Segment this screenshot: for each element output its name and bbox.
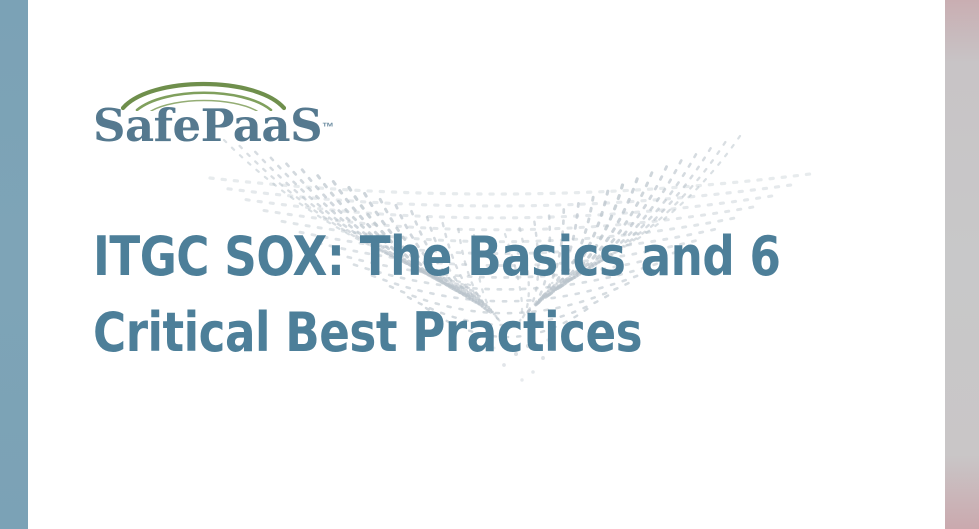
logo-wordmark: SafePaaS™ [93,103,334,148]
safepaas-logo: SafePaaS™ [93,75,303,163]
gradient-bar-bottom [0,501,979,529]
gradient-bar-top [0,0,979,28]
logo-wordmark-text: SafePaaS [93,99,322,152]
page-title: ITGC SOX: The Basics and 6 Critical Best… [93,219,828,370]
logo-trademark-symbol: ™ [322,120,334,134]
left-rail [0,0,28,529]
right-rail [945,0,979,529]
content-card: SafePaaS™ ITGC SOX: The Basics and 6 Cri… [28,28,945,505]
blog-header-banner: SafePaaS™ ITGC SOX: The Basics and 6 Cri… [0,0,979,529]
